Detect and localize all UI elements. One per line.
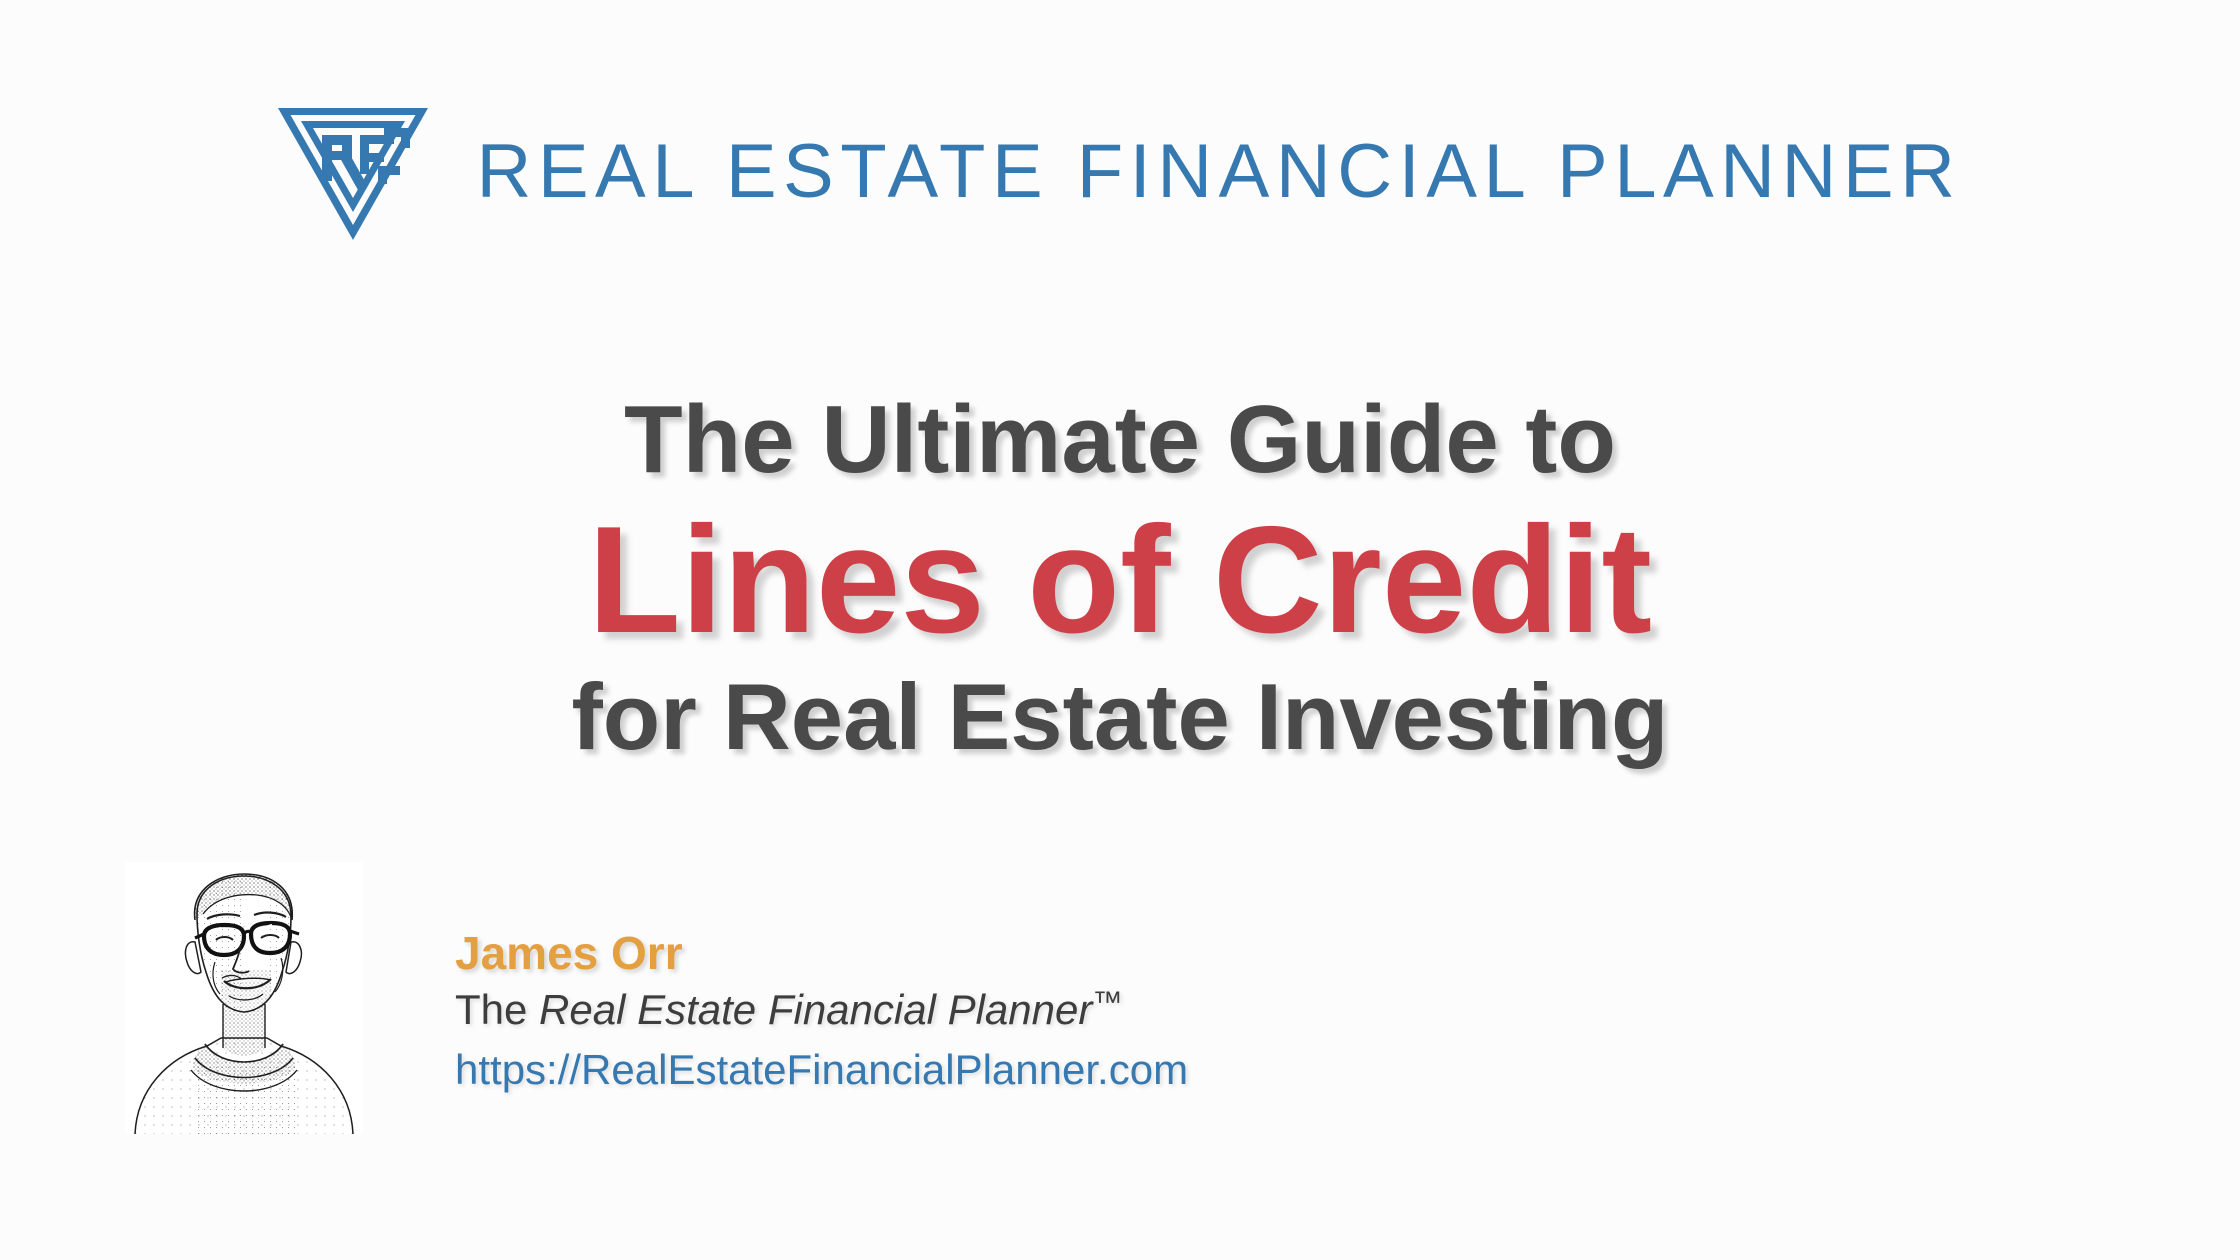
title-line-sub: for Real Estate Investing (0, 670, 2240, 764)
trademark-symbol: ™ (1092, 986, 1122, 1019)
rep-triangle-monogram-logo-icon (278, 106, 428, 242)
author-role-prefix: The (455, 986, 539, 1033)
author-byline: James Orr The Real Estate Financial Plan… (125, 862, 1188, 1134)
title-block: The Ultimate Guide to Lines of Credit fo… (0, 392, 2240, 764)
author-portrait-stipple-illustration (125, 862, 363, 1134)
author-name: James Orr (455, 926, 1188, 980)
title-line-top: The Ultimate Guide to (0, 392, 2240, 488)
brand-wordmark: REAL ESTATE FINANCIAL PLANNER (476, 134, 1961, 214)
author-role-brand: Real Estate Financial Planner (539, 986, 1092, 1033)
title-slide: REAL ESTATE FINANCIAL PLANNER The Ultima… (0, 0, 2240, 1260)
brand-header: REAL ESTATE FINANCIAL PLANNER (0, 106, 2240, 242)
title-line-main: Lines of Credit (0, 504, 2240, 656)
byline-text-group: James Orr The Real Estate Financial Plan… (455, 862, 1188, 1100)
author-website-link[interactable]: https://RealEstateFinancialPlanner.com (455, 1040, 1188, 1100)
author-role: The Real Estate Financial Planner™ (455, 980, 1188, 1040)
